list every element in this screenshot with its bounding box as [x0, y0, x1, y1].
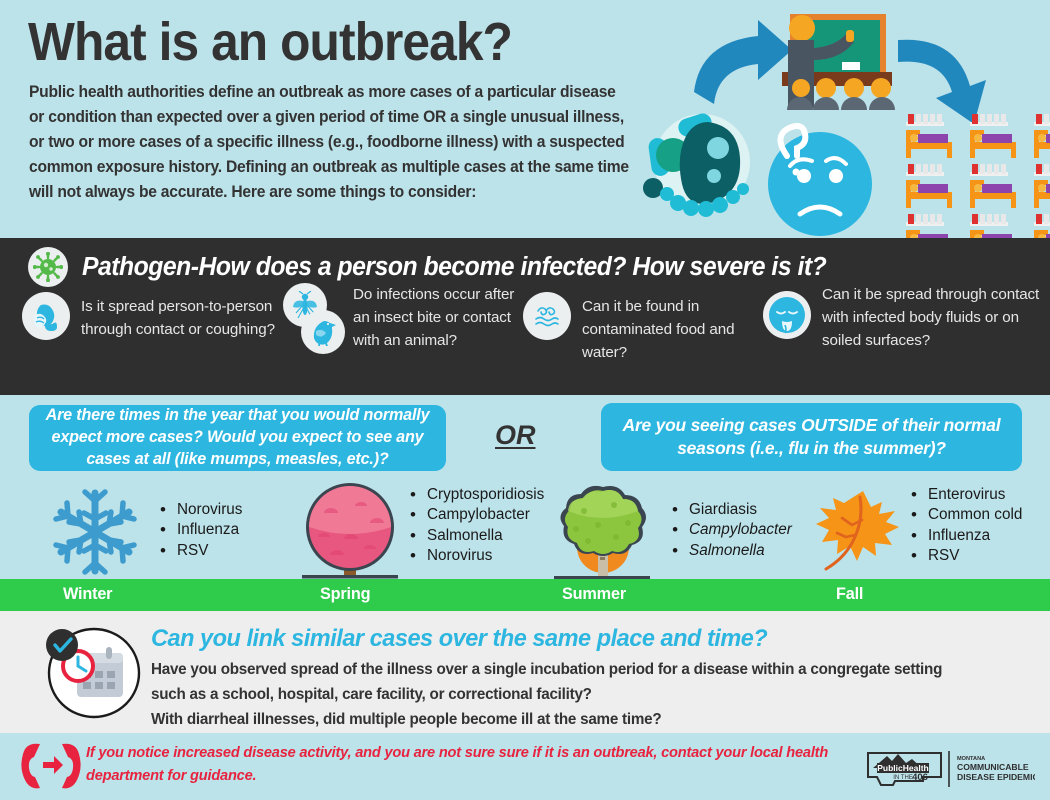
season-column-summer: Giardiasis Campylobacter Salmonella: [524, 479, 786, 579]
season-label-spring: Spring: [320, 585, 370, 604]
pathogen-question-1-text: Is it spread person-to-person through co…: [81, 292, 282, 341]
season-label-winter: Winter: [63, 585, 112, 604]
pathogen-question-4-text: Can it be spread through contact with in…: [822, 283, 1048, 352]
germ-cell-icon: [643, 111, 750, 217]
cough-mask-icon: [22, 292, 70, 340]
season-disease-list-winter: Norovirus Influenza RSV: [160, 500, 242, 561]
link-cases-title: Can you link similar cases over the same…: [151, 625, 767, 653]
footer-text: If you notice increased disease activity…: [86, 742, 846, 787]
season-question-left-box: Are there times in the year that you wou…: [29, 405, 446, 471]
disease-item: Enterovirus: [911, 485, 1022, 505]
season-column-winter: Norovirus Influenza RSV: [0, 479, 262, 579]
disease-item: Campylobacter: [672, 520, 792, 540]
or-label: OR: [495, 420, 536, 451]
header-illustration-svg: [630, 0, 1050, 238]
maple-leaf-icon: [808, 485, 908, 582]
snowflake-icon: [52, 489, 138, 580]
curved-arrow-down-icon: [898, 40, 986, 124]
intro-paragraph: Public health authorities define an outb…: [29, 80, 629, 205]
svg-text:406: 406: [912, 772, 928, 783]
green-tree-icon: [554, 481, 652, 584]
season-disease-list-fall: Enterovirus Common cold Influenza RSV: [911, 485, 1022, 566]
disease-item: Salmonella: [672, 541, 792, 561]
season-column-spring: Cryptosporidiosis Campylobacter Salmonel…: [262, 479, 524, 579]
sick-vomiting-face-icon: [763, 291, 811, 339]
disease-item: Influenza: [911, 526, 1022, 546]
confused-sick-face-icon: [768, 126, 872, 236]
mosquito-bird-icon: [283, 283, 347, 355]
water-waves-icon: [523, 292, 571, 340]
disease-item: Norovirus: [160, 500, 242, 520]
season-disease-list-summer: Giardiasis Campylobacter Salmonella: [672, 500, 792, 561]
pathogen-question-1: Is it spread person-to-person through co…: [22, 292, 282, 341]
link-cases-body: Have you observed spread of the illness …: [151, 658, 946, 732]
link-cases-section: Can you link similar cases over the same…: [0, 611, 1050, 733]
pathogen-title: Pathogen-How does a person become infect…: [82, 253, 826, 282]
montana-public-health-logo: PublicHealth IN THE 406 MONTANA COMMUNIC…: [863, 747, 1035, 791]
disease-item: Influenza: [160, 520, 242, 540]
pathogen-question-2-text: Do infections occur after an insect bite…: [353, 283, 533, 352]
header-illustration: [630, 0, 1050, 238]
season-label-bar: Winter Spring Summer Fall: [0, 579, 1050, 611]
season-label-fall: Fall: [836, 585, 863, 604]
bird-icon: [301, 310, 345, 354]
pathogen-section: Pathogen-How does a person become infect…: [0, 238, 1050, 395]
pathogen-question-3: Can it be found in contaminated food and…: [523, 292, 773, 364]
page-title: What is an outbreak?: [28, 14, 512, 71]
disease-item: Common cold: [911, 505, 1022, 525]
curved-arrow-right-icon: [694, 20, 792, 104]
pathogen-question-2: Do infections occur after an insect bite…: [283, 283, 533, 355]
svg-text:COMMUNICABLE: COMMUNICABLE: [957, 762, 1029, 772]
svg-text:DISEASE EPIDEMIOLOGY: DISEASE EPIDEMIOLOGY: [957, 772, 1035, 782]
teacher-classroom-icon: [782, 14, 895, 110]
pathogen-question-4: Can it be spread through contact with in…: [763, 283, 1048, 352]
phone-call-transfer-icon: [20, 741, 82, 796]
disease-item: RSV: [160, 541, 242, 561]
header-section: What is an outbreak? Public health autho…: [0, 0, 1050, 238]
infographic-page: What is an outbreak? Public health autho…: [0, 0, 1050, 800]
svg-text:IN THE: IN THE: [893, 775, 913, 781]
season-question-right-box: Are you seeing cases OUTSIDE of their no…: [601, 403, 1022, 471]
pathogen-question-3-text: Can it be found in contaminated food and…: [582, 292, 773, 364]
season-label-summer: Summer: [562, 585, 626, 604]
hospital-bed-icon: [906, 114, 1050, 238]
seasons-section: Norovirus Influenza RSV: [0, 479, 1050, 579]
disease-item: RSV: [911, 546, 1022, 566]
virus-icon: [28, 247, 68, 287]
blossom-tree-icon: [300, 479, 400, 584]
clock-calendar-check-icon: [40, 627, 144, 724]
pathogen-header: Pathogen-How does a person become infect…: [28, 247, 849, 287]
disease-item: Giardiasis: [672, 500, 792, 520]
season-column-fall: Enterovirus Common cold Influenza RSV: [786, 479, 1050, 579]
